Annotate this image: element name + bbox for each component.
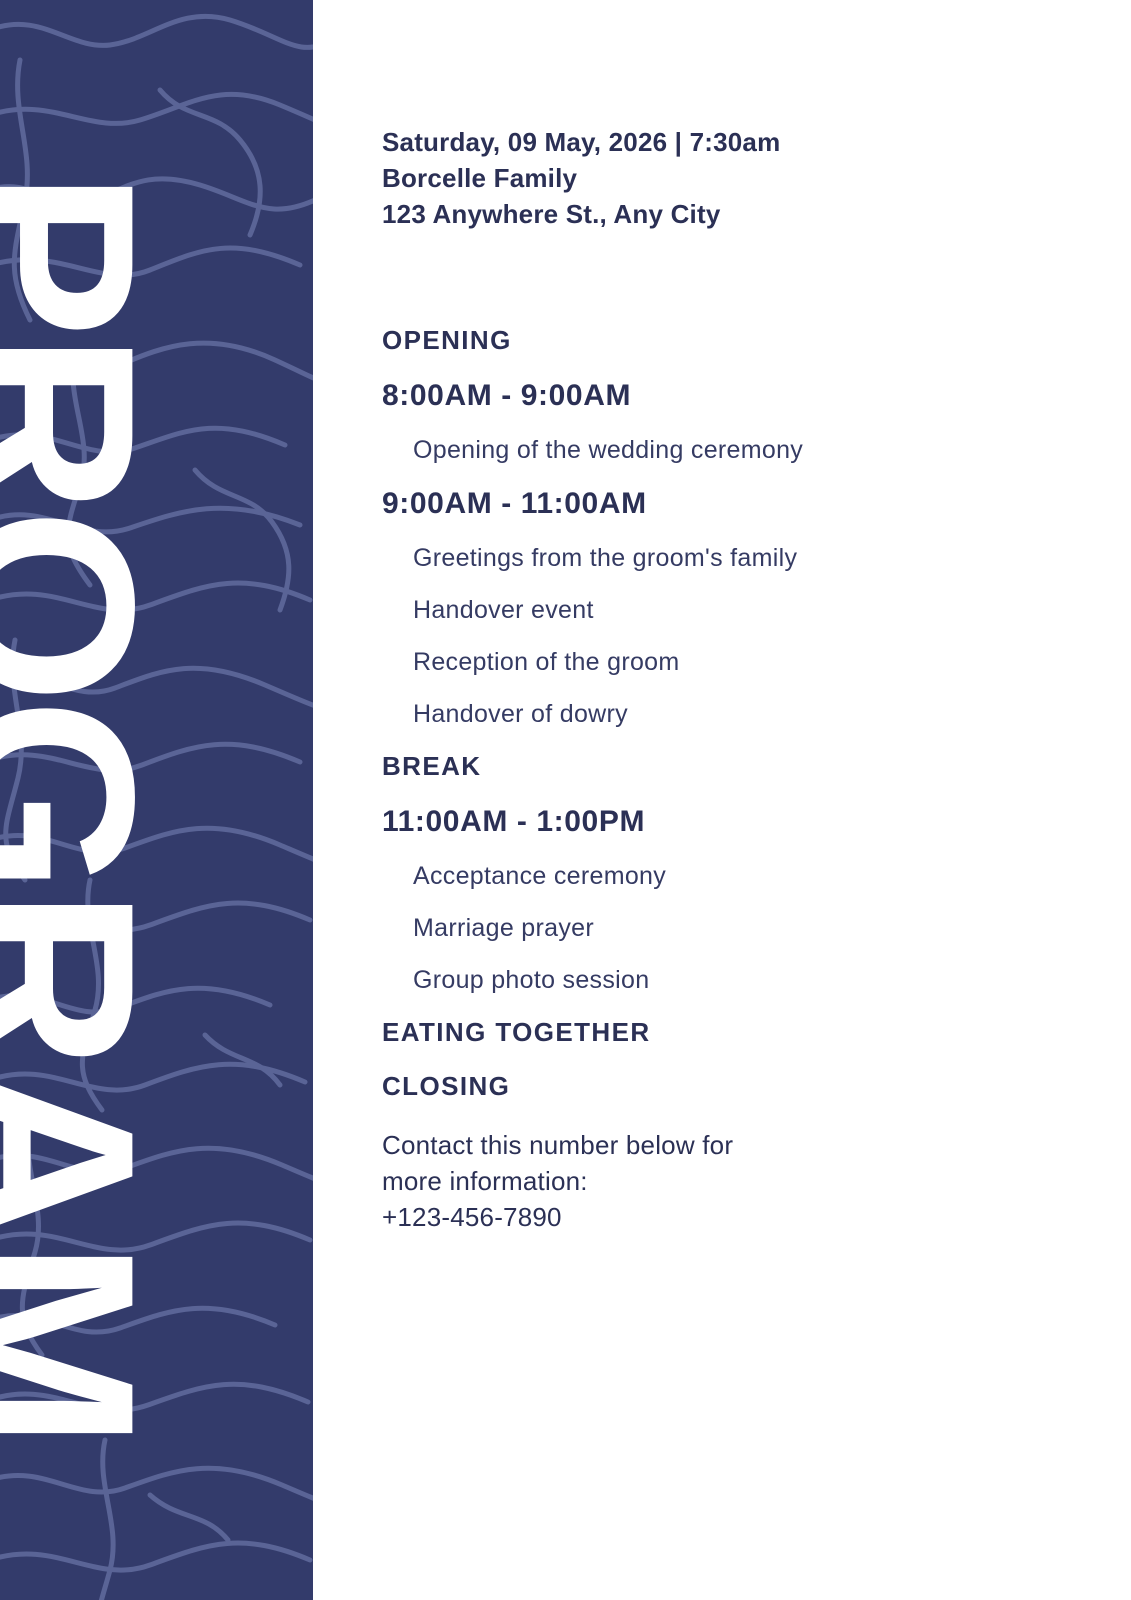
contact-block: Contact this number below for more infor… — [382, 1127, 902, 1235]
schedule-block: BREAK 11:00AM - 1:00PM Acceptance ceremo… — [382, 751, 1022, 995]
schedule-time-range: 11:00AM - 1:00PM — [382, 805, 1022, 839]
program-page: PROGRAM Saturday, 09 May, 2026 | 7:30am … — [0, 0, 1131, 1600]
schedule-event-item: Handover of dowry — [413, 699, 1022, 729]
schedule-event-item: Group photo session — [413, 965, 1022, 995]
event-family-name: Borcelle Family — [382, 160, 1022, 196]
contact-phone-number: +123-456-7890 — [382, 1199, 902, 1235]
event-details-block: Saturday, 09 May, 2026 | 7:30am Borcelle… — [382, 124, 1022, 232]
schedule-event-item: Acceptance ceremony — [413, 861, 1022, 891]
schedule-time-range: 9:00AM - 11:00AM — [382, 487, 1022, 521]
schedule-event-item: Marriage prayer — [413, 913, 1022, 943]
schedule-event-item: Opening of the wedding ceremony — [413, 435, 1022, 465]
contact-line-2: more information: — [382, 1163, 902, 1199]
schedule-section-title: OPENING — [382, 325, 1022, 355]
schedule-event-item: Greetings from the groom's family — [413, 543, 1022, 573]
content-column: Saturday, 09 May, 2026 | 7:30am Borcelle… — [382, 0, 1082, 1600]
schedule-section-title-closing: CLOSING — [382, 1071, 1022, 1101]
schedule-event-item: Handover event — [413, 595, 1022, 625]
schedule-section-title: BREAK — [382, 751, 1022, 781]
squiggle-pattern — [0, 0, 313, 1600]
decorative-side-panel: PROGRAM — [0, 0, 313, 1600]
contact-line-1: Contact this number below for — [382, 1127, 902, 1163]
schedule-event-item: Reception of the groom — [413, 647, 1022, 677]
schedule-time-range: 8:00AM - 9:00AM — [382, 379, 1022, 413]
schedule-list: OPENING 8:00AM - 9:00AM Opening of the w… — [382, 325, 1022, 1235]
schedule-section-title-eating-together: EATING TOGETHER — [382, 1017, 1022, 1047]
event-date-time: Saturday, 09 May, 2026 | 7:30am — [382, 124, 1022, 160]
schedule-block: OPENING 8:00AM - 9:00AM Opening of the w… — [382, 325, 1022, 465]
schedule-block: 9:00AM - 11:00AM Greetings from the groo… — [382, 487, 1022, 729]
event-address: 123 Anywhere St., Any City — [382, 196, 1022, 232]
